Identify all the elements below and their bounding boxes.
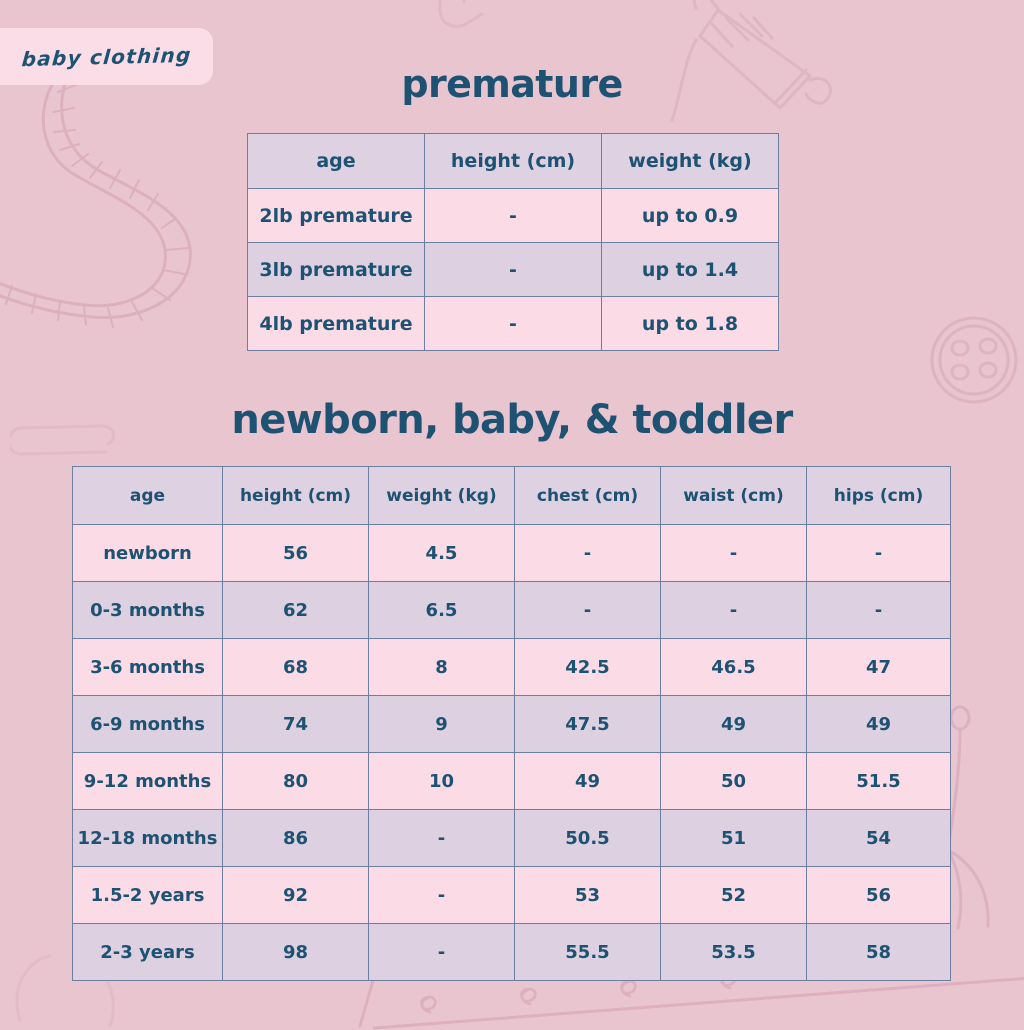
cell-height: 62 [223, 582, 369, 639]
baby-section-title: newborn, baby, & toddler [0, 397, 1024, 443]
column-header-weight: weight (kg) [369, 467, 515, 525]
column-header-waist: waist (cm) [661, 467, 807, 525]
cell-waist: 52 [661, 867, 807, 924]
cell-chest: 50.5 [515, 810, 661, 867]
cell-height: - [425, 297, 602, 351]
table-row: 3-6 months 68 8 42.5 46.5 47 [73, 639, 951, 696]
cell-hips: 47 [807, 639, 951, 696]
column-header-age: age [248, 134, 425, 189]
table-header-row: age height (cm) weight (kg) [248, 134, 779, 189]
table-row: newborn 56 4.5 - - - [73, 525, 951, 582]
table-row: 12-18 months 86 - 50.5 51 54 [73, 810, 951, 867]
cell-weight: up to 0.9 [602, 189, 779, 243]
cell-hips: 58 [807, 924, 951, 981]
column-header-hips: hips (cm) [807, 467, 951, 525]
cell-chest: 47.5 [515, 696, 661, 753]
cell-hips: - [807, 582, 951, 639]
cell-hips: 51.5 [807, 753, 951, 810]
cell-waist: 50 [661, 753, 807, 810]
cell-chest: - [515, 525, 661, 582]
baby-size-table: age height (cm) weight (kg) chest (cm) w… [72, 466, 951, 981]
cell-height: 92 [223, 867, 369, 924]
cell-hips: 56 [807, 867, 951, 924]
cell-height: 86 [223, 810, 369, 867]
cell-age: 3lb premature [248, 243, 425, 297]
cell-weight: - [369, 867, 515, 924]
cell-age: 4lb premature [248, 297, 425, 351]
cell-hips: - [807, 525, 951, 582]
column-header-weight: weight (kg) [602, 134, 779, 189]
table-row: 4lb premature - up to 1.8 [248, 297, 779, 351]
cell-weight: 10 [369, 753, 515, 810]
column-header-chest: chest (cm) [515, 467, 661, 525]
cell-weight: - [369, 924, 515, 981]
table-row: 6-9 months 74 9 47.5 49 49 [73, 696, 951, 753]
cell-age: newborn [73, 525, 223, 582]
cell-height: - [425, 189, 602, 243]
premature-size-table: age height (cm) weight (kg) 2lb prematur… [247, 133, 779, 351]
cell-age: 2lb premature [248, 189, 425, 243]
cell-age: 9-12 months [73, 753, 223, 810]
cell-age: 3-6 months [73, 639, 223, 696]
cell-age: 2-3 years [73, 924, 223, 981]
table-row: 2lb premature - up to 0.9 [248, 189, 779, 243]
table-row: 3lb premature - up to 1.4 [248, 243, 779, 297]
column-header-height: height (cm) [425, 134, 602, 189]
cell-age: 6-9 months [73, 696, 223, 753]
column-header-height: height (cm) [223, 467, 369, 525]
cell-waist: 51 [661, 810, 807, 867]
cell-weight: 6.5 [369, 582, 515, 639]
table-row: 0-3 months 62 6.5 - - - [73, 582, 951, 639]
cell-age: 1.5-2 years [73, 867, 223, 924]
cell-waist: - [661, 525, 807, 582]
cell-height: - [425, 243, 602, 297]
cell-height: 98 [223, 924, 369, 981]
premature-section-title: premature [0, 62, 1024, 106]
cell-weight: up to 1.8 [602, 297, 779, 351]
cell-chest: - [515, 582, 661, 639]
cell-waist: - [661, 582, 807, 639]
table-row: 2-3 years 98 - 55.5 53.5 58 [73, 924, 951, 981]
cell-chest: 42.5 [515, 639, 661, 696]
cell-height: 74 [223, 696, 369, 753]
table-row: 1.5-2 years 92 - 53 52 56 [73, 867, 951, 924]
cell-weight: 4.5 [369, 525, 515, 582]
table-header-row: age height (cm) weight (kg) chest (cm) w… [73, 467, 951, 525]
cell-waist: 49 [661, 696, 807, 753]
cell-weight: up to 1.4 [602, 243, 779, 297]
cell-height: 56 [223, 525, 369, 582]
cell-weight: - [369, 810, 515, 867]
measuring-tape-doodle [0, 70, 240, 370]
cell-waist: 46.5 [661, 639, 807, 696]
cell-age: 0-3 months [73, 582, 223, 639]
cell-weight: 9 [369, 696, 515, 753]
cell-height: 80 [223, 753, 369, 810]
column-header-age: age [73, 467, 223, 525]
cell-age: 12-18 months [73, 810, 223, 867]
sock-doodle [420, 0, 540, 54]
cell-chest: 49 [515, 753, 661, 810]
cell-hips: 54 [807, 810, 951, 867]
cell-waist: 53.5 [661, 924, 807, 981]
table-row: 9-12 months 80 10 49 50 51.5 [73, 753, 951, 810]
cell-chest: 55.5 [515, 924, 661, 981]
cell-weight: 8 [369, 639, 515, 696]
cell-chest: 53 [515, 867, 661, 924]
cell-height: 68 [223, 639, 369, 696]
cell-hips: 49 [807, 696, 951, 753]
size-chart-page: baby clothing premature age height (cm) … [0, 0, 1024, 1024]
